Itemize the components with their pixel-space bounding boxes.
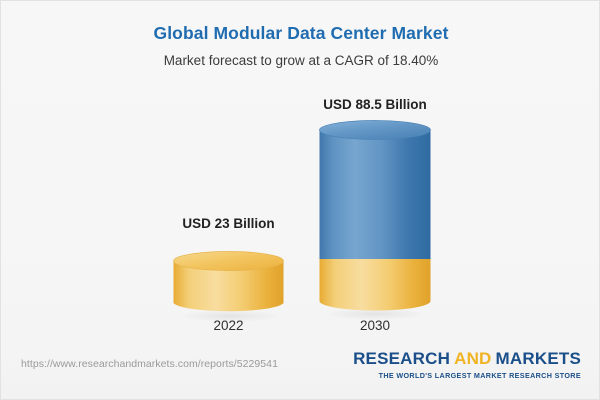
chart-card: Global Modular Data Center Market Market… <box>0 0 600 400</box>
bar-value-label-2022: USD 23 Billion <box>173 216 284 231</box>
chart-title: Global Modular Data Center Market <box>1 23 600 44</box>
chart-subtitle: Market forecast to grow at a CAGR of 18.… <box>1 53 600 68</box>
bar-value-label-2030: USD 88.5 Billion <box>319 97 431 112</box>
brand-logo[interactable]: RESEARCHANDMARKETS THE WORLD'S LARGEST M… <box>353 349 581 380</box>
bar-group-2022[interactable]: USD 23 Billion <box>173 81 284 343</box>
category-label-2030: 2030 <box>319 318 431 333</box>
category-label-2022: 2022 <box>173 318 284 333</box>
footer: https://www.researchandmarkets.com/repor… <box>1 343 599 399</box>
bar-group-2030[interactable]: USD 88.5 Billion <box>319 81 431 343</box>
cylinder-2022[interactable] <box>173 251 284 321</box>
source-url-link[interactable]: https://www.researchandmarkets.com/repor… <box>21 358 278 370</box>
brand-wordmark: RESEARCHANDMARKETS <box>353 349 581 369</box>
cylinder-2030[interactable] <box>319 120 431 320</box>
brand-word-and: AND <box>454 349 491 368</box>
brand-tagline: THE WORLD'S LARGEST MARKET RESEARCH STOR… <box>353 371 581 380</box>
plot-area: USD 23 Billion <box>1 81 600 343</box>
brand-word-research: RESEARCH <box>353 349 450 368</box>
brand-word-markets: MARKETS <box>496 349 581 368</box>
